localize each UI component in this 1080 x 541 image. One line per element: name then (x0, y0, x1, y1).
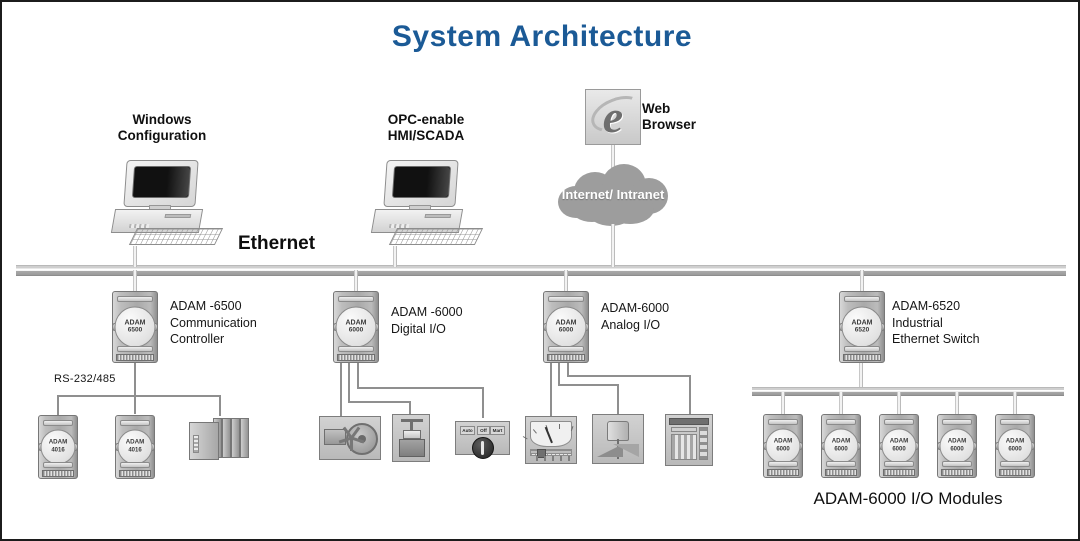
io-drop-5 (1013, 392, 1017, 415)
blower-fan-icon (319, 416, 381, 460)
adam-6000-digital-label: ADAM -6000 Digital I/O (391, 304, 541, 337)
web-browser-label: Web Browser (642, 101, 752, 134)
module-rack-icon (189, 416, 251, 464)
adam-6520-faceplate: ADAM 6520 (842, 307, 883, 348)
adam-6500-faceplate: ADAM 6500 (115, 307, 156, 348)
io-drop-4 (955, 392, 959, 415)
adam-6520-module[interactable]: ADAM 6520 (839, 291, 885, 363)
adam-6000-analog-module[interactable]: ADAM 6000 (543, 291, 589, 363)
adam-6000-digital-faceplate: ADAM 6000 (336, 307, 377, 348)
digital-wire-3c (482, 387, 484, 418)
windows-configuration-label: Windows Configuration (74, 112, 250, 145)
desktop-pc-icon (363, 160, 481, 246)
adam-6000-analog-label: ADAM-6000 Analog I/O (601, 300, 751, 333)
analog-gauge-icon (525, 416, 577, 464)
tank-mixer-icon (592, 414, 644, 464)
desktop-pc-icon (103, 160, 221, 246)
link-ethernet-to-adam6520 (860, 270, 864, 292)
control-valve-icon (392, 414, 430, 462)
internet-explorer-icon: e (585, 89, 641, 145)
switch-tag-manual: Mart (490, 426, 505, 435)
ethernet-backbone (16, 265, 1066, 276)
digital-wire-3b (357, 387, 484, 389)
control-panel-icon (665, 414, 713, 466)
serial-drop-1 (57, 395, 59, 416)
adam-4016-module-2[interactable]: ADAM 4016 (115, 415, 155, 479)
analog-wire-3b (567, 375, 691, 377)
adam-6000-io-module-4[interactable]: ADAM 6000 (937, 414, 977, 478)
digital-wire-2a (348, 363, 350, 402)
link-cloud-to-ethernet (611, 224, 615, 267)
page-title: System Architecture (2, 20, 1080, 54)
analog-wire-2a (558, 363, 560, 385)
link-ethernet-to-adam6000-analog (564, 270, 568, 292)
link-ethernet-to-adam6000-digital (354, 270, 358, 292)
adam-6000-io-module-3[interactable]: ADAM 6000 (879, 414, 919, 478)
system-architecture-diagram: System Architecture Ethernet Windows Con… (0, 0, 1080, 541)
io-module-bus (752, 387, 1064, 396)
adam-6000-analog-faceplate: ADAM 6000 (546, 307, 587, 348)
analog-wire-2c (617, 384, 619, 417)
adam-6000-io-module-1[interactable]: ADAM 6000 (763, 414, 803, 478)
adam-6520-label: ADAM-6520 Industrial Ethernet Switch (892, 298, 1052, 348)
adam-6000-digital-module[interactable]: ADAM 6000 (333, 291, 379, 363)
switch-tag-auto: Auto (460, 426, 475, 435)
io-drop-1 (781, 392, 785, 415)
link-windows-to-ethernet (133, 246, 137, 267)
internet-intranet-cloud: Internet/ Intranet (554, 162, 672, 228)
analog-wire-3c (689, 375, 691, 417)
serial-drop-3 (219, 395, 221, 416)
io-drop-2 (839, 392, 843, 415)
analog-wire-1 (550, 363, 552, 417)
adam-6500-module[interactable]: ADAM 6500 (112, 291, 158, 363)
ethernet-label: Ethernet (238, 233, 315, 255)
link-opc-to-ethernet (393, 246, 397, 267)
selector-switch-icon: Auto Off Mart (455, 421, 510, 455)
switch-tag-off: Off (477, 426, 490, 435)
digital-wire-1 (340, 363, 342, 417)
adam-6500-label: ADAM -6500 Communication Controller (170, 298, 320, 348)
serial-bus (57, 395, 221, 397)
io-drop-3 (897, 392, 901, 415)
link-adam6500-to-serial-bus (134, 363, 136, 414)
cloud-label: Internet/ Intranet (554, 162, 672, 228)
opc-hmi-scada-label: OPC-enable HMI/SCADA (338, 112, 514, 145)
io-modules-caption: ADAM-6000 I/O Modules (752, 489, 1064, 509)
adam-4016-module-1[interactable]: ADAM 4016 (38, 415, 78, 479)
adam-6000-io-module-5[interactable]: ADAM 6000 (995, 414, 1035, 478)
link-ethernet-to-adam6500 (133, 270, 137, 292)
analog-wire-2b (558, 384, 619, 386)
rs232-485-label: RS-232/485 (54, 373, 116, 385)
link-adam6520-to-io-bus (859, 363, 863, 388)
adam-6000-io-module-2[interactable]: ADAM 6000 (821, 414, 861, 478)
digital-wire-3a (357, 363, 359, 388)
digital-wire-2b (348, 401, 411, 403)
